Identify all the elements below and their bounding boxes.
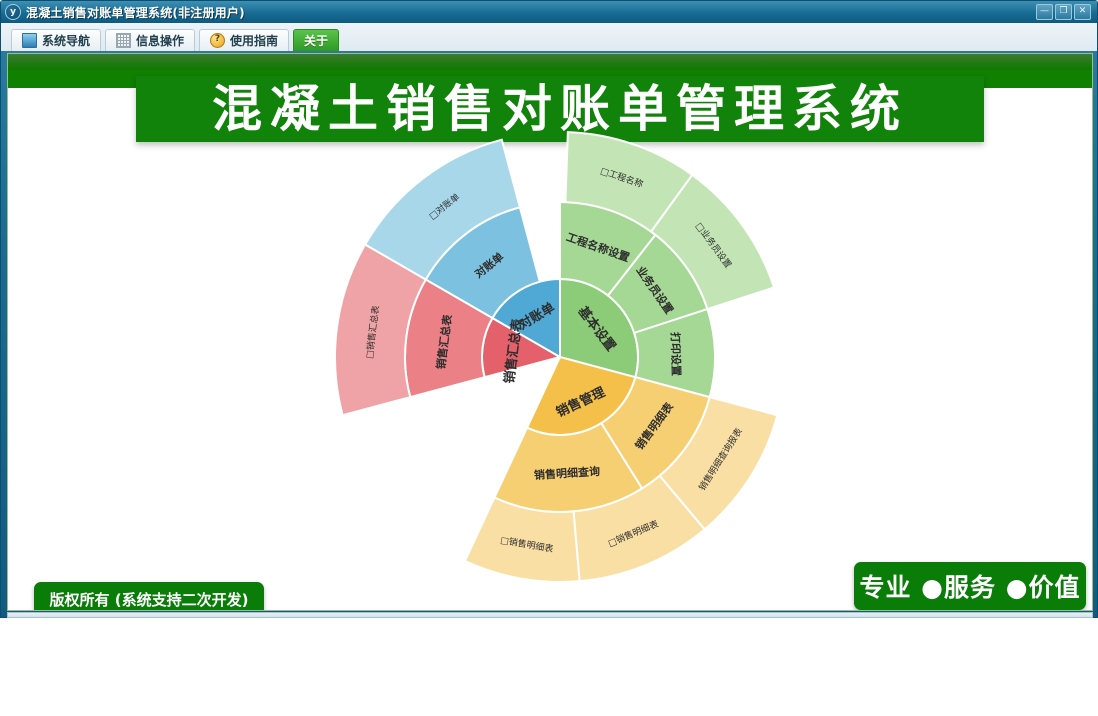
app-logo-icon: y <box>5 4 21 20</box>
tab-information-operations[interactable]: 信息操作 <box>105 29 195 51</box>
sunburst-menu: 基本设置工程名称设置业务员设置打印设置□工程名称□业务员设置销售管理销售明细查询… <box>8 54 1093 611</box>
window-controls: — ❐ ✕ <box>1036 4 1093 20</box>
tab-about[interactable]: 关于 <box>293 29 339 51</box>
tab-label: 信息操作 <box>136 32 184 49</box>
grid-icon <box>116 33 131 48</box>
tab-label: 关于 <box>304 32 328 49</box>
window-title: 混凝土销售对账单管理系统(非注册用户) <box>26 4 245 21</box>
main-tab-strip: 系统导航 信息操作 ? 使用指南 关于 <box>1 23 1097 51</box>
close-button[interactable]: ✕ <box>1074 4 1091 20</box>
status-bar <box>7 612 1093 618</box>
tab-label: 使用指南 <box>230 32 278 49</box>
client-area: 混凝土销售对账单管理系统 基本设置工程名称设置业务员设置打印设置□工程名称□业务… <box>7 53 1093 611</box>
tagline-badge: 专业 ●服务 ●价值 <box>854 562 1086 610</box>
sunburst-svg <box>8 54 1093 611</box>
tab-label: 系统导航 <box>42 32 90 49</box>
title-bar: y 混凝土销售对账单管理系统(非注册用户) — ❐ ✕ <box>1 1 1097 23</box>
minimize-button[interactable]: — <box>1036 4 1053 20</box>
tab-user-guide[interactable]: ? 使用指南 <box>199 29 289 51</box>
copyright-text: 版权所有 (系统支持二次开发) <box>50 589 249 610</box>
copyright-badge: 版权所有 (系统支持二次开发) <box>34 582 264 611</box>
tab-system-navigation[interactable]: 系统导航 <box>11 29 101 51</box>
tagline-text: 专业 ●服务 ●价值 <box>859 568 1080 604</box>
application-window: y 混凝土销售对账单管理系统(非注册用户) — ❐ ✕ 系统导航 信息操作 ? … <box>0 0 1098 618</box>
restore-button[interactable]: ❐ <box>1055 4 1072 20</box>
help-circle-icon: ? <box>210 33 225 48</box>
window-icon <box>22 33 37 48</box>
